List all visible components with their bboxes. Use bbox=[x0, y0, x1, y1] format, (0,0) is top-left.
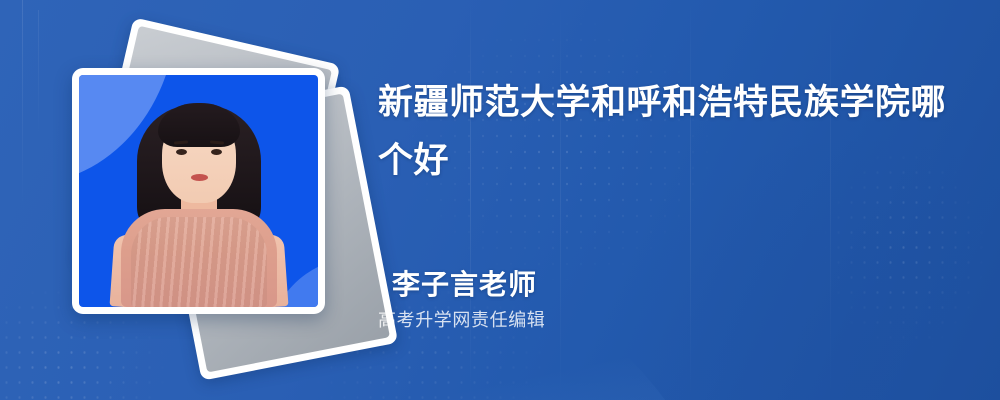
author-photo bbox=[79, 75, 318, 307]
portrait-eye-left bbox=[176, 149, 187, 155]
author-name: 李子言老师 bbox=[392, 268, 545, 302]
article-author-banner: 新疆师范大学和呼和浩特民族学院哪个好 李子言老师 高考升学网责任编辑 bbox=[0, 0, 1000, 400]
author-portrait-illustration bbox=[104, 107, 294, 307]
photo-card-stack bbox=[45, 40, 365, 370]
banner-text-content: 新疆师范大学和呼和浩特民族学院哪个好 李子言老师 高考升学网责任编辑 bbox=[378, 0, 988, 400]
portrait-mouth bbox=[191, 174, 208, 181]
portrait-body bbox=[121, 209, 277, 307]
author-photo-card bbox=[72, 68, 325, 314]
author-role: 高考升学网责任编辑 bbox=[378, 308, 545, 332]
author-info: 李子言老师 高考升学网责任编辑 bbox=[378, 268, 545, 332]
page-title: 新疆师范大学和呼和浩特民族学院哪个好 bbox=[378, 74, 968, 190]
portrait-eye-right bbox=[211, 149, 222, 155]
